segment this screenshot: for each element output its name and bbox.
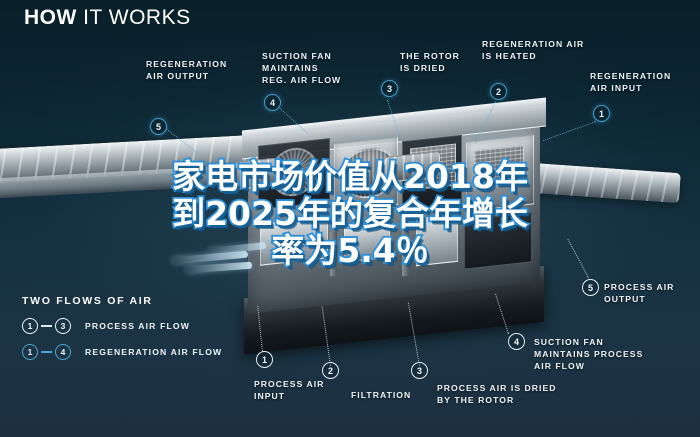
infographic-canvas: HOW IT WORKS REGENERATION AIR OUTPUT 5 S… [0,0,700,437]
legend-label-regeneration-air-flow: REGENERATION AIR FLOW [85,347,222,357]
right-duct [529,163,681,203]
page-title-strong: HOW [24,6,77,29]
callout-badge-process-air-input[interactable]: 1 [256,351,273,368]
legend-badge-from-1-blue: 1 [22,344,38,360]
legend-row-process-air-flow: 1 3 PROCESS AIR FLOW [22,318,222,334]
callout-badge-filtration[interactable]: 2 [322,362,339,379]
support-leg-2 [402,230,409,277]
callout-label-regeneration-air-heated: REGENERATION AIR IS HEATED [482,38,612,62]
callout-badge-suction-fan-reg-air-flow[interactable]: 4 [264,94,281,111]
callout-badge-process-air-dried[interactable]: 3 [411,362,428,379]
legend: TWO FLOWS OF AIR 1 3 PROCESS AIR FLOW 1 … [22,295,222,370]
leader-line-process-output [567,239,589,278]
dehumidifier-illustration [234,112,552,344]
callout-badge-suction-fan-process-air-flow[interactable]: 4 [508,333,525,350]
secondary-filter-grid [474,145,524,188]
legend-badge-from-1: 1 [22,318,38,334]
callout-badge-rotor-is-dried[interactable]: 3 [381,80,398,97]
lower-bay-right [464,212,532,269]
callout-badge-regeneration-air-output[interactable]: 5 [150,118,167,135]
callout-label-process-air-dried: PROCESS AIR IS DRIED BY THE ROTOR [437,382,597,406]
page-title-light: IT WORKS [77,6,191,29]
callout-label-regeneration-air-output: REGENERATION AIR OUTPUT [146,58,266,82]
legend-dash-1 [41,325,52,326]
callout-label-suction-fan-reg-air-flow: SUCTION FAN MAINTAINS REG. AIR FLOW [262,50,387,87]
lower-plate-right [416,214,458,267]
legend-badge-to-4: 4 [55,344,71,360]
flow-arrow-2 [186,262,252,274]
legend-title: TWO FLOWS OF AIR [22,295,222,307]
lower-plate-left [260,216,328,265]
callout-label-process-air-input: PROCESS AIR INPUT [254,378,364,402]
callout-badge-regeneration-air-input[interactable]: 1 [593,105,610,122]
support-leg-1 [330,232,337,277]
callout-badge-process-air-output[interactable]: 5 [582,279,599,296]
legend-badge-to-3: 3 [55,318,71,334]
lower-plate-mid [344,222,390,263]
inlet-cylinder [230,157,278,190]
callout-label-filtration: FILTRATION [351,389,451,401]
callout-label-suction-fan-process-air-flow: SUCTION FAN MAINTAINS PROCESS AIR FLOW [534,336,694,373]
legend-dash-2 [41,351,52,352]
legend-row-regeneration-air-flow: 1 4 REGENERATION AIR FLOW [22,344,222,360]
legend-label-process-air-flow: PROCESS AIR FLOW [85,321,190,331]
page-title: HOW IT WORKS [0,0,700,30]
callout-badge-regeneration-air-heated[interactable]: 2 [490,83,507,100]
callout-label-process-air-output: PROCESS AIR OUTPUT [604,281,698,305]
callout-label-regeneration-air-input: REGENERATION AIR INPUT [590,70,700,94]
